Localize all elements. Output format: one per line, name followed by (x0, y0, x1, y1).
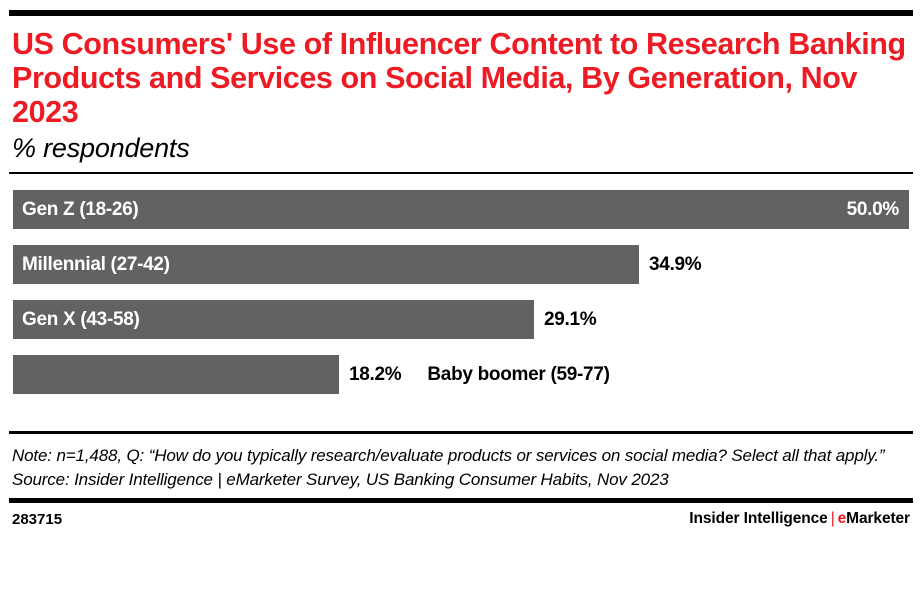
bar-category-label: Gen Z (18-26) (13, 199, 138, 221)
bar-value-label: 50.0% (847, 199, 909, 221)
bar-category-label: Gen X (43-58) (13, 309, 140, 331)
brand-emarketer-rest: Marketer (846, 510, 910, 527)
chart-title: US Consumers' Use of Influencer Content … (12, 27, 912, 129)
brand-lockup: Insider Intelligence|eMarketer (689, 510, 910, 528)
bar-row: Gen Z (18-26) 50.0% (9, 190, 913, 229)
brand-separator: | (831, 510, 835, 527)
note-text: Note: n=1,488, Q: “How do you typically … (12, 445, 913, 466)
header-divider-rule (9, 172, 913, 174)
chart-subtitle: % respondents (12, 133, 913, 163)
notes-divider-rule (9, 431, 913, 434)
source-text: Source: Insider Intelligence | eMarketer… (12, 469, 913, 490)
footer: 283715 Insider Intelligence|eMarketer (9, 510, 913, 528)
bar-outside-group: 18.2% Baby boomer (59-77) (349, 355, 610, 394)
chart-id: 283715 (12, 511, 62, 528)
bar-gen-z[interactable]: Gen Z (18-26) 50.0% (13, 190, 909, 229)
brand-emarketer-initial: e (838, 510, 847, 527)
notes-block: Note: n=1,488, Q: “How do you typically … (9, 445, 913, 490)
bar-row: 18.2% Baby boomer (59-77) (9, 355, 913, 394)
top-rule (9, 10, 913, 16)
chart-card: US Consumers' Use of Influencer Content … (0, 10, 922, 596)
bar-value-label: 29.1% (544, 309, 596, 331)
bar-category-label: Millennial (27-42) (13, 254, 170, 276)
brand-insider-intelligence: Insider Intelligence (689, 510, 827, 527)
bar-gen-x[interactable]: Gen X (43-58) (13, 300, 534, 339)
bar-outside-group: 34.9% (649, 245, 701, 284)
bar-row: Millennial (27-42) 34.9% (9, 245, 913, 284)
bar-outside-group: 29.1% (544, 300, 596, 339)
bar-chart-plot-area: Gen Z (18-26) 50.0% Millennial (27-42) 3… (9, 190, 913, 418)
bar-value-label: 34.9% (649, 254, 701, 276)
footer-divider-rule (9, 498, 913, 503)
notes-rule-wrapper (9, 431, 913, 434)
bar-row: Gen X (43-58) 29.1% (9, 300, 913, 339)
bar-category-label: Baby boomer (59-77) (427, 364, 609, 386)
bar-value-label: 18.2% (349, 364, 401, 386)
bar-millennial[interactable]: Millennial (27-42) (13, 245, 639, 284)
bar-baby-boomer[interactable] (13, 355, 339, 394)
